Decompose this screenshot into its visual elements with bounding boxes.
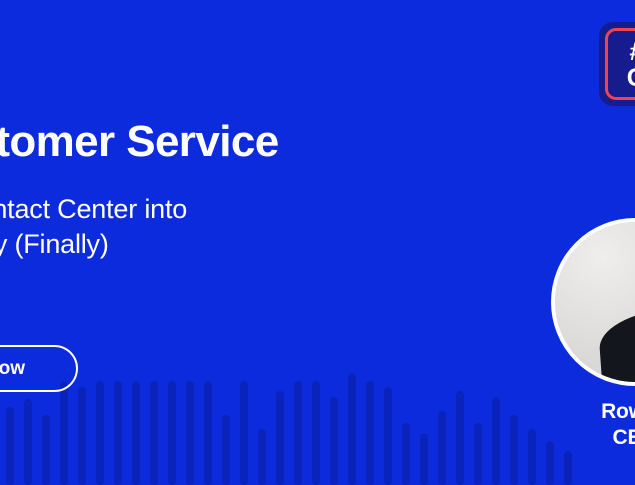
event-badge-frame: # G xyxy=(605,28,635,100)
waveform-bar xyxy=(42,415,50,485)
waveform-bar xyxy=(168,381,176,485)
waveform-bar xyxy=(456,391,464,485)
waveform-bar xyxy=(474,423,482,485)
watch-now-button[interactable]: Now xyxy=(0,345,78,392)
page-subtitle: the Contact Center into Century (Finally… xyxy=(0,192,474,262)
waveform-bar xyxy=(420,433,428,485)
badge-letter: G xyxy=(627,66,635,91)
hash-icon: # xyxy=(630,40,635,65)
waveform-bar xyxy=(78,387,86,485)
audio-waveform-decoration xyxy=(0,360,635,485)
speaker-photo xyxy=(555,222,635,382)
waveform-bar xyxy=(294,381,302,485)
waveform-bar xyxy=(366,381,374,485)
waveform-bar xyxy=(312,381,320,485)
speaker-role: CEO xyxy=(551,426,635,450)
photo-suit xyxy=(597,302,635,386)
waveform-bar xyxy=(528,429,536,485)
waveform-bar xyxy=(132,381,140,485)
speaker-block: Rowan CEO xyxy=(551,218,635,450)
waveform-bar xyxy=(510,415,518,485)
waveform-bar xyxy=(384,387,392,485)
waveform-bar xyxy=(276,391,284,485)
speaker-name: Rowan xyxy=(551,400,635,424)
waveform-bar xyxy=(258,429,266,485)
waveform-bar xyxy=(330,397,338,485)
subtitle-line-2: Century (Finally) xyxy=(0,227,474,262)
waveform-bar xyxy=(564,451,572,485)
waveform-bar xyxy=(186,381,194,485)
waveform-bar xyxy=(438,411,446,485)
waveform-bar xyxy=(6,407,14,485)
waveform-bar xyxy=(96,381,104,485)
waveform-bar xyxy=(222,415,230,485)
waveform-bar xyxy=(24,399,32,485)
waveform-bar xyxy=(348,373,356,485)
page-title: Customer Service xyxy=(0,120,474,164)
subtitle-line-1: the Contact Center into xyxy=(0,192,474,227)
waveform-bar xyxy=(204,381,212,485)
headline-block: Customer Service the Contact Center into… xyxy=(0,120,474,262)
waveform-bar xyxy=(240,381,248,485)
waveform-bar xyxy=(60,381,68,485)
waveform-bar xyxy=(114,381,122,485)
waveform-bar xyxy=(150,381,158,485)
webinar-promo-banner: Customer Service the Contact Center into… xyxy=(0,0,635,485)
waveform-bar xyxy=(492,397,500,485)
avatar xyxy=(551,218,635,386)
waveform-bar xyxy=(402,423,410,485)
event-badge: # G xyxy=(599,22,635,106)
